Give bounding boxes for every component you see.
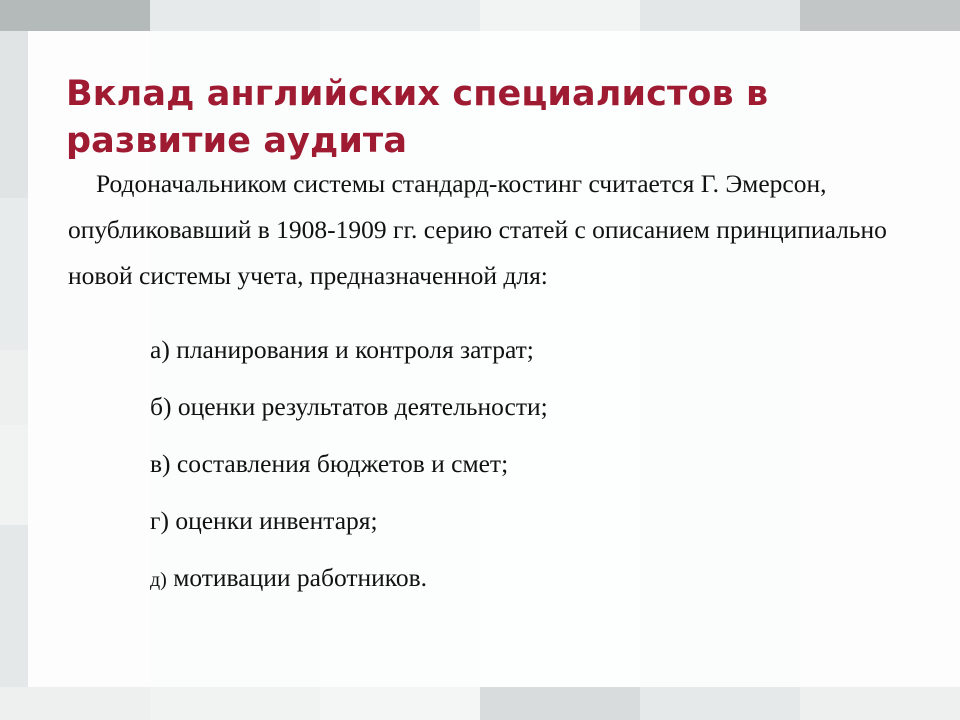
list-item-text: мотивации работников. — [167, 563, 427, 592]
decor-bottom-block-4 — [480, 687, 640, 720]
body-paragraph: Родоначальником системы стандард-костинг… — [28, 161, 923, 299]
decor-bottom-block-1 — [0, 687, 150, 720]
decor-top-block-1 — [0, 0, 150, 31]
decor-left-block-4 — [0, 425, 28, 525]
slide-title: Вклад английских специалистов в развитие… — [66, 71, 866, 165]
decor-top-block-3 — [320, 0, 480, 31]
list-item: г) оценки инвентаря; — [28, 492, 923, 549]
slide-canvas: Вклад английских специалистов в развитие… — [0, 0, 960, 720]
decor-bottom-block-6 — [800, 687, 960, 720]
list-item-marker: д) — [150, 569, 167, 591]
list-item-marker: г) — [150, 506, 169, 535]
list-item-text: оценки результатов деятельности; — [171, 392, 547, 421]
decor-bottom-block-5 — [640, 687, 800, 720]
list-item: д) мотивации работников. — [28, 549, 923, 609]
list-item-text: оценки инвентаря; — [169, 506, 378, 535]
list-item-marker: в) — [150, 449, 171, 478]
decor-top-block-6 — [800, 0, 960, 31]
list-item-text: составления бюджетов и смет; — [171, 449, 509, 478]
decor-left-block-5 — [0, 525, 28, 687]
decor-top-block-4 — [480, 0, 640, 31]
list-item: а) планирования и контроля затрат; — [28, 321, 923, 378]
decor-bottom-block-3 — [320, 687, 480, 720]
list-item-marker: б) — [150, 392, 171, 421]
list-item: в) составления бюджетов и смет; — [28, 435, 923, 492]
decor-bottom-block-2 — [150, 687, 320, 720]
slide-body: Родоначальником системы стандард-костинг… — [28, 161, 923, 609]
decor-left-block-1 — [0, 31, 28, 198]
lettered-list: а) планирования и контроля затрат;б) оце… — [28, 321, 923, 609]
decor-top-block-5 — [640, 0, 800, 31]
slide-content-card: Вклад английских специалистов в развитие… — [28, 31, 923, 687]
decor-top-block-2 — [150, 0, 320, 31]
list-item-marker: а) — [150, 335, 170, 364]
list-item: б) оценки результатов деятельности; — [28, 378, 923, 435]
decor-left-block-2 — [0, 198, 28, 350]
list-item-text: планирования и контроля затрат; — [170, 335, 534, 364]
decor-left-block-3 — [0, 350, 28, 425]
